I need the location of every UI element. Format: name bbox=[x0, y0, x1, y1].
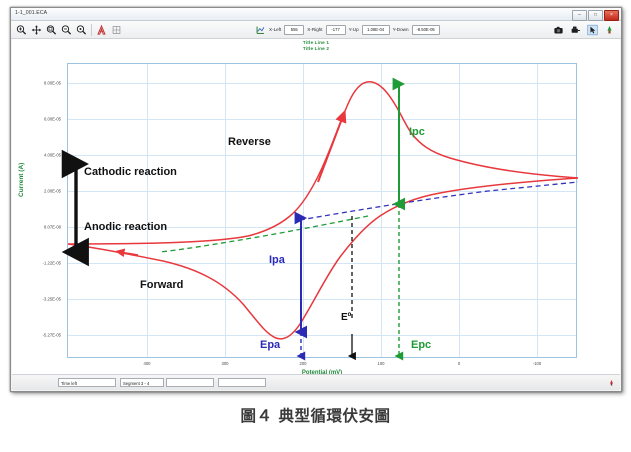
application-window: 1-1_001.ECA – □ × bbox=[10, 7, 622, 392]
y-down-input[interactable]: -8.50E-05 bbox=[412, 25, 440, 35]
y-axis-label: Current (A) bbox=[18, 163, 25, 197]
y-tick-label: 8.07E-08 bbox=[44, 225, 64, 230]
zoom-fit-icon[interactable] bbox=[76, 24, 87, 36]
y-up-label: Y-Up bbox=[349, 27, 359, 32]
status-segment: Segment 3 - 4 bbox=[120, 378, 164, 387]
reverse-scan-curve bbox=[68, 82, 578, 244]
zoom-in-icon[interactable] bbox=[16, 24, 27, 36]
y-down-label: Y-Down bbox=[393, 27, 409, 32]
toolbar-left-group bbox=[16, 24, 122, 36]
axis-range-icon[interactable] bbox=[255, 24, 266, 36]
x-tick-label: 0 bbox=[458, 361, 460, 366]
close-button[interactable]: × bbox=[604, 10, 619, 21]
toolbar: X-Left 555 X-Right -177 Y-Up 1.08E-04 Y-… bbox=[11, 21, 621, 39]
status-bar: Time left Segment 3 - 4 bbox=[12, 374, 620, 390]
plot-title-line-1: Title Line 1 bbox=[12, 40, 620, 45]
pan-move-icon[interactable] bbox=[31, 24, 42, 36]
camera-icon[interactable] bbox=[553, 24, 564, 36]
status-field-2 bbox=[218, 378, 266, 387]
y-up-input[interactable]: 1.08E-04 bbox=[362, 25, 390, 35]
annotation-e-standard: Eº bbox=[341, 312, 351, 323]
annotate-a-icon[interactable] bbox=[96, 24, 107, 36]
y-tick-label: 4.00E-05 bbox=[44, 153, 64, 158]
window-title-bar: 1-1_001.ECA – □ × bbox=[11, 8, 621, 21]
forward-scan-curve bbox=[68, 178, 578, 339]
y-tick-label: 8.00E-05 bbox=[44, 81, 64, 86]
x-right-label: X-Right bbox=[307, 27, 322, 32]
x-left-input[interactable]: 555 bbox=[284, 25, 304, 35]
cyclic-voltammogram-svg bbox=[68, 64, 578, 359]
annotation-forward: Forward bbox=[140, 279, 183, 291]
cathodic-baseline-dashed bbox=[160, 216, 368, 252]
x-left-label: X-Left bbox=[269, 27, 281, 32]
status-time-left: Time left bbox=[58, 378, 116, 387]
figure-caption: 圖４ 典型循環伏安圖 bbox=[0, 404, 631, 426]
y-tick-label: -5.27E-05 bbox=[43, 333, 64, 338]
x-tick-label: -100 bbox=[533, 361, 541, 366]
printer-icon[interactable] bbox=[570, 24, 581, 36]
maximize-button[interactable]: □ bbox=[588, 10, 603, 21]
annotation-anodic-reaction: Anodic reaction bbox=[84, 221, 167, 233]
anodic-baseline-dashed bbox=[300, 182, 578, 220]
annotation-cathodic-reaction: Cathodic reaction bbox=[84, 166, 177, 178]
zoom-out-icon[interactable] bbox=[61, 24, 72, 36]
toolbar-separator bbox=[91, 24, 92, 36]
chart-plot-area[interactable]: 8.00E-05 6.00E-05 4.00E-05 2.00E-05 8.07… bbox=[67, 63, 577, 358]
minimize-button[interactable]: – bbox=[572, 10, 587, 21]
document-title: 1-1_001.ECA bbox=[15, 10, 47, 16]
y-tick-label: -1.22E-05 bbox=[43, 261, 64, 266]
annotation-epc: Epc bbox=[411, 339, 431, 351]
plot-title-line-2: Title Line 2 bbox=[12, 46, 620, 51]
x-tick-label: 400 bbox=[144, 361, 151, 366]
window-controls: – □ × bbox=[572, 10, 619, 21]
x-tick-label: 200 bbox=[300, 361, 307, 366]
zoom-window-icon[interactable] bbox=[46, 24, 57, 36]
status-indicator-icon bbox=[609, 380, 614, 386]
grid-icon[interactable] bbox=[111, 24, 122, 36]
cursor-select-icon[interactable] bbox=[587, 24, 598, 36]
toolbar-range-group: X-Left 555 X-Right -177 Y-Up 1.08E-04 Y-… bbox=[255, 24, 440, 36]
annotation-reverse: Reverse bbox=[228, 136, 271, 148]
y-tick-label: -3.25E-05 bbox=[43, 297, 64, 302]
annotation-ipa: Ipa bbox=[269, 254, 285, 266]
x-tick-label: 100 bbox=[378, 361, 385, 366]
x-right-input[interactable]: -177 bbox=[326, 25, 346, 35]
y-tick-label: 6.00E-05 bbox=[44, 117, 64, 122]
status-field-1 bbox=[166, 378, 214, 387]
toolbar-right-group bbox=[553, 24, 615, 36]
annotation-ipc: Ipc bbox=[409, 126, 425, 138]
color-picker-icon[interactable] bbox=[604, 24, 615, 36]
y-tick-label: 2.00E-05 bbox=[44, 189, 64, 194]
x-tick-label: 300 bbox=[222, 361, 229, 366]
plot-panel: Title Line 1 Title Line 2 Current (A) Po… bbox=[12, 39, 620, 374]
reverse-direction-arrow bbox=[318, 116, 343, 182]
annotation-epa: Epa bbox=[260, 339, 280, 351]
